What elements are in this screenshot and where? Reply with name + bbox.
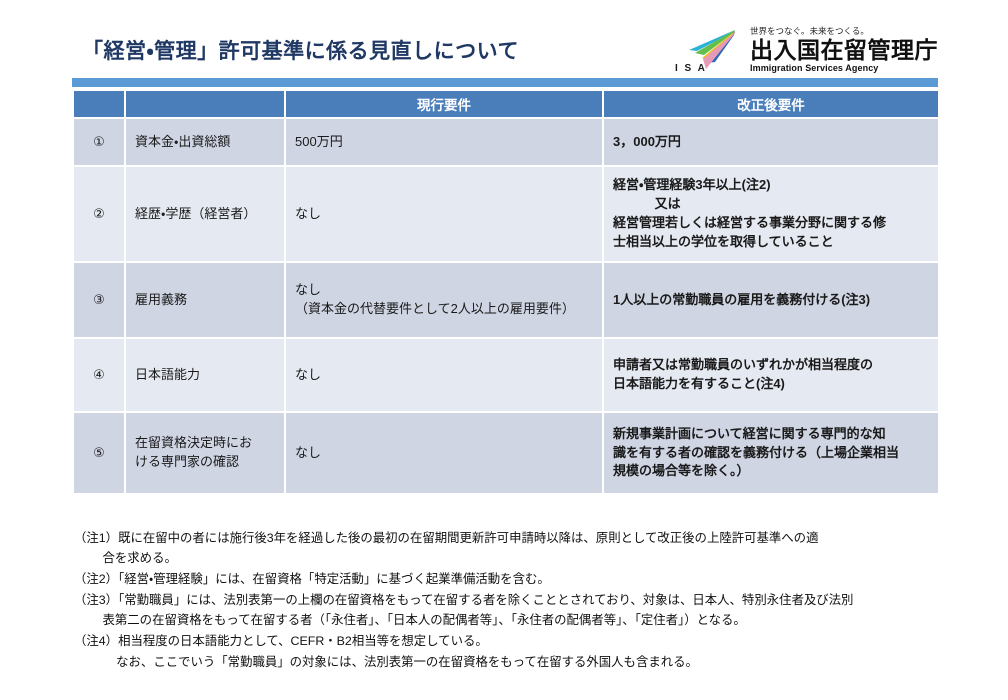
revised-line-4: 士相当以上の学位を取得していること [613, 234, 834, 249]
table-row: ④ 日本語能力 なし 申請者又は常勤職員のいずれかが相当程度の 日本語能力を有す… [73, 338, 939, 412]
table-row: ⑤ 在留資格決定時にお ける専門家の確認 なし 新規事業計画について経営に関する… [73, 412, 939, 494]
column-header-revised: 改正後要件 [603, 90, 939, 118]
row-current-value: なし [285, 412, 603, 494]
footnote-1: （注1）既に在留中の者には施行後3年を経過した後の最初の在留期間更新許可申請時以… [74, 528, 964, 568]
footnote-3-line-1: （注3）「常勤職員」には、法別表第一の上欄の在留資格をもって在留する者を除くこと… [74, 593, 853, 607]
footnote-4-line-1: （注4）相当程度の日本語能力として、CEFR・B2相当等を想定している。 [74, 634, 488, 648]
footnote-3: （注3）「常勤職員」には、法別表第一の上欄の在留資格をもって在留する者を除くこと… [74, 590, 964, 630]
row-current-value: なし [285, 166, 603, 262]
table-row: ② 経歴・学歴（経営者） なし 経営・管理経験3年以上(注2) 又は 経営管理若… [73, 166, 939, 262]
row-revised-value: 経営・管理経験3年以上(注2) 又は 経営管理若しくは経営する事業分野に関する修… [603, 166, 939, 262]
column-header-number [73, 90, 125, 118]
row-number: ⑤ [73, 412, 125, 494]
table-row: ① 資本金・出資総額 500万円 3，000万円 [73, 118, 939, 166]
row-item-label: 日本語能力 [125, 338, 285, 412]
row-item-label: 資本金・出資総額 [125, 118, 285, 166]
row-number: ① [73, 118, 125, 166]
revised-line-2: 日本語能力を有すること(注4) [613, 376, 785, 391]
current-line-2: （資本金の代替要件として2人以上の雇用要件） [295, 301, 575, 316]
row-current-value: なし （資本金の代替要件として2人以上の雇用要件） [285, 262, 603, 338]
row-revised-value: 1人以上の常勤職員の雇用を義務付ける(注3) [603, 262, 939, 338]
row-number: ③ [73, 262, 125, 338]
footnote-1-line-1: （注1）既に在留中の者には施行後3年を経過した後の最初の在留期間更新許可申請時以… [74, 531, 818, 545]
isa-abbreviation: I S A [675, 63, 707, 74]
agency-logo: I S A 世界をつなぐ。未来をつくる。 出入国在留管理庁 Immigratio… [673, 27, 938, 73]
comparison-table: 現行要件 改正後要件 ① 資本金・出資総額 500万円 3，000万円 ② 経歴… [72, 89, 940, 495]
document-page: 「経営・管理」許可基準に係る見直しについて I S A 世界をつなぐ。未来をつく… [0, 0, 1008, 700]
footnote-4-line-2: なお、ここでいう「常勤職員」の対象には、法別表第一の在留資格をもって在留する外国… [74, 652, 964, 672]
footnote-3-line-2: 表第二の在留資格をもって在留する者（「永住者」、「日本人の配偶者等」、「永住者の… [74, 610, 964, 630]
footnote-4: （注4）相当程度の日本語能力として、CEFR・B2相当等を想定している。 なお、… [74, 631, 964, 671]
row-item-label: 雇用義務 [125, 262, 285, 338]
current-line-1: なし [295, 282, 321, 297]
revised-line-1: 新規事業計画について経営に関する専門的な知 [613, 426, 886, 441]
row-number: ④ [73, 338, 125, 412]
revised-line-2: 又は [613, 195, 681, 214]
footnotes: （注1）既に在留中の者には施行後3年を経過した後の最初の在留期間更新許可申請時以… [74, 528, 964, 673]
agency-name-block: 世界をつなぐ。未来をつくる。 出入国在留管理庁 Immigration Serv… [750, 27, 938, 73]
row-revised-value: 新規事業計画について経営に関する専門的な知 識を有する者の確認を義務付ける（上場… [603, 412, 939, 494]
isa-paper-plane-logo: I S A [673, 28, 741, 72]
row-revised-value: 申請者又は常勤職員のいずれかが相当程度の 日本語能力を有すること(注4) [603, 338, 939, 412]
column-header-item [125, 90, 285, 118]
column-header-current: 現行要件 [285, 90, 603, 118]
table-row: ③ 雇用義務 なし （資本金の代替要件として2人以上の雇用要件） 1人以上の常勤… [73, 262, 939, 338]
footnote-1-line-2: 合を求める。 [74, 548, 964, 568]
revised-line-3: 経営管理若しくは経営する事業分野に関する修 [613, 215, 886, 230]
revised-line-3: 規模の場合等を除く。） [613, 463, 750, 478]
item-line-2: ける専門家の確認 [135, 454, 239, 469]
footnote-2: （注2）「経営・管理経験」には、在留資格「特定活動」に基づく起業準備活動を含む。 [74, 569, 964, 589]
row-revised-value: 3，000万円 [603, 118, 939, 166]
row-item-label: 在留資格決定時にお ける専門家の確認 [125, 412, 285, 494]
title-divider [72, 78, 938, 87]
agency-name-en: Immigration Services Agency [750, 64, 938, 73]
revised-line-1: 経営・管理経験3年以上(注2) [613, 177, 771, 192]
page-title: 「経営・管理」許可基準に係る見直しについて [82, 35, 519, 65]
revised-line-2: 識を有する者の確認を義務付ける（上場企業相当 [613, 445, 899, 460]
row-number: ② [73, 166, 125, 262]
agency-name-jp: 出入国在留管理庁 [750, 38, 938, 62]
document-header: 「経営・管理」許可基準に係る見直しについて I S A 世界をつなぐ。未来をつく… [0, 22, 1008, 78]
row-current-value: なし [285, 338, 603, 412]
row-item-label: 経歴・学歴（経営者） [125, 166, 285, 262]
revised-line-1: 申請者又は常勤職員のいずれかが相当程度の [613, 357, 873, 372]
agency-tagline: 世界をつなぐ。未来をつくる。 [750, 27, 938, 36]
comparison-table-wrapper: 現行要件 改正後要件 ① 資本金・出資総額 500万円 3，000万円 ② 経歴… [72, 89, 938, 495]
item-line-1: 在留資格決定時にお [135, 435, 252, 450]
row-current-value: 500万円 [285, 118, 603, 166]
table-header-row: 現行要件 改正後要件 [73, 90, 939, 118]
